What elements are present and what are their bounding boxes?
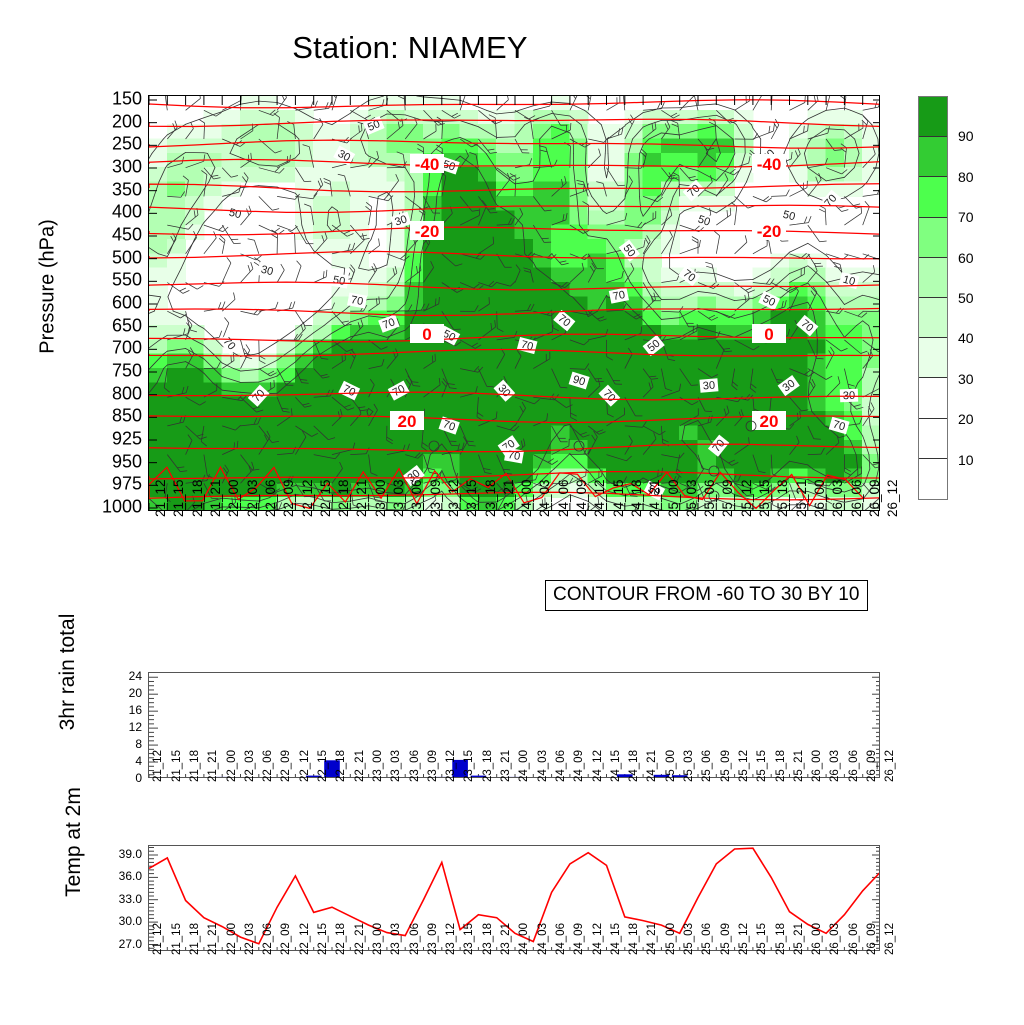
x-tick-label: 25_00 bbox=[666, 479, 681, 517]
x-tick-label: 24_06 bbox=[556, 479, 571, 517]
colorbar-band bbox=[919, 459, 947, 499]
colorbar-band bbox=[919, 97, 947, 137]
x-tick-label: 24_06 bbox=[555, 923, 567, 955]
x-tick-label: 23_21 bbox=[500, 750, 512, 782]
x-tick-label: 24_09 bbox=[573, 923, 585, 955]
main-y-tick: 925 bbox=[112, 429, 142, 450]
x-tick-label: 25_06 bbox=[701, 750, 713, 782]
x-tick-label: 22_21 bbox=[354, 479, 369, 517]
x-tick-label: 21_12 bbox=[153, 479, 168, 517]
main-y-tick: 850 bbox=[112, 406, 142, 427]
x-tick-label: 26_09 bbox=[867, 479, 882, 517]
x-tick-label: 26_06 bbox=[848, 750, 860, 782]
svg-text:70: 70 bbox=[612, 289, 626, 303]
colorbar-tick: 60 bbox=[958, 250, 974, 266]
main-y-tick: 600 bbox=[112, 293, 142, 314]
x-tick-label: 24_12 bbox=[592, 479, 607, 517]
main-y-axis-title: Pressure (hPa) bbox=[37, 177, 60, 397]
x-tick-label: 24_03 bbox=[537, 923, 549, 955]
x-tick-label: 21_12 bbox=[152, 923, 164, 955]
colorbar-tick: 40 bbox=[958, 330, 974, 346]
x-tick-label: 23_18 bbox=[482, 923, 494, 955]
main-y-tick: 200 bbox=[112, 111, 142, 132]
x-tick-label: 22_00 bbox=[226, 750, 238, 782]
x-tick-label: 21_18 bbox=[189, 923, 201, 955]
x-tick-label: 26_09 bbox=[866, 923, 878, 955]
x-tick-label: 24_06 bbox=[555, 750, 567, 782]
x-tick-label: 23_06 bbox=[409, 479, 424, 517]
colorbar-tick: 80 bbox=[958, 169, 974, 185]
svg-text:-40: -40 bbox=[757, 155, 782, 174]
svg-text:-20: -20 bbox=[415, 222, 440, 241]
x-tick-label: 23_00 bbox=[372, 923, 384, 955]
x-tick-label: 25_12 bbox=[738, 750, 750, 782]
x-tick-label: 25_21 bbox=[793, 923, 805, 955]
x-tick-label: 25_03 bbox=[683, 923, 695, 955]
rain-y-tick: 0 bbox=[135, 771, 142, 785]
temp-y-tick: 27.0 bbox=[119, 937, 142, 951]
colorbar-tick: 90 bbox=[958, 128, 974, 144]
colorbar-band bbox=[919, 137, 947, 177]
x-tick-label: 23_21 bbox=[501, 479, 516, 517]
rain-bars bbox=[149, 673, 880, 778]
colorbar-tick: 50 bbox=[958, 290, 974, 306]
temp-panel bbox=[148, 845, 880, 951]
colorbar-tick: 70 bbox=[958, 209, 974, 225]
temp-line bbox=[149, 846, 880, 951]
rain-x-axis-labels: 21_1221_1521_1821_2122_0022_0322_0622_09… bbox=[148, 782, 880, 852]
x-tick-label: 23_09 bbox=[427, 750, 439, 782]
x-tick-label: 21_12 bbox=[152, 750, 164, 782]
svg-text:-40: -40 bbox=[415, 155, 440, 174]
rain-plot-area bbox=[148, 672, 880, 778]
x-tick-label: 24_00 bbox=[518, 750, 530, 782]
x-tick-label: 23_12 bbox=[446, 479, 461, 517]
colorbar-band bbox=[919, 177, 947, 217]
x-tick-label: 23_00 bbox=[372, 750, 384, 782]
x-tick-label: 26_12 bbox=[884, 750, 896, 782]
x-tick-label: 21_21 bbox=[207, 750, 219, 782]
x-tick-label: 25_09 bbox=[720, 479, 735, 517]
page-title: Station: NIAMEY bbox=[0, 30, 820, 66]
x-tick-label: 23_12 bbox=[445, 923, 457, 955]
x-tick-label: 25_21 bbox=[793, 750, 805, 782]
x-tick-label: 25_21 bbox=[794, 479, 809, 517]
rain-panel bbox=[148, 672, 880, 778]
temp-plot-area bbox=[148, 845, 880, 951]
x-tick-label: 23_03 bbox=[390, 923, 402, 955]
x-tick-label: 25_06 bbox=[701, 923, 713, 955]
x-tick-label: 25_03 bbox=[684, 479, 699, 517]
main-y-tick: 800 bbox=[112, 383, 142, 404]
x-tick-label: 25_12 bbox=[738, 923, 750, 955]
main-y-axis-labels: 1502002503003504004505005506006507007508… bbox=[60, 95, 142, 511]
x-tick-label: 26_12 bbox=[884, 923, 896, 955]
main-y-tick: 975 bbox=[112, 474, 142, 495]
x-tick-label: 22_06 bbox=[263, 479, 278, 517]
x-tick-label: 21_18 bbox=[190, 479, 205, 517]
x-tick-label: 23_18 bbox=[482, 750, 494, 782]
x-tick-label: 25_12 bbox=[739, 479, 754, 517]
x-tick-label: 25_18 bbox=[775, 923, 787, 955]
main-y-tick: 950 bbox=[112, 451, 142, 472]
x-tick-label: 24_15 bbox=[610, 923, 622, 955]
x-tick-label: 23_12 bbox=[445, 750, 457, 782]
temp-y-axis-labels: 39.036.033.030.027.0 bbox=[72, 845, 142, 951]
main-y-tick: 1000 bbox=[102, 497, 142, 518]
temp-y-tick: 33.0 bbox=[119, 892, 142, 906]
x-tick-label: 23_06 bbox=[409, 750, 421, 782]
x-tick-label: 26_03 bbox=[830, 479, 845, 517]
temp-y-tick: 30.0 bbox=[119, 914, 142, 928]
rain-y-tick: 12 bbox=[129, 720, 142, 734]
rain-y-tick: 8 bbox=[135, 737, 142, 751]
figure-canvas: Station: NIAMEY 150200250300350400450500… bbox=[0, 0, 1024, 1024]
main-y-tick: 350 bbox=[112, 179, 142, 200]
x-tick-label: 22_09 bbox=[281, 479, 296, 517]
x-tick-label: 21_21 bbox=[207, 923, 219, 955]
x-tick-label: 23_03 bbox=[390, 750, 402, 782]
x-tick-label: 26_00 bbox=[812, 479, 827, 517]
x-tick-label: 24_21 bbox=[646, 923, 658, 955]
x-tick-label: 25_09 bbox=[720, 750, 732, 782]
x-tick-label: 23_21 bbox=[500, 923, 512, 955]
x-tick-label: 22_15 bbox=[317, 923, 329, 955]
contour-range-note: CONTOUR FROM -60 TO 30 BY 10 bbox=[545, 580, 868, 611]
x-tick-label: 26_12 bbox=[885, 479, 900, 517]
x-tick-label: 22_03 bbox=[245, 479, 260, 517]
x-tick-label: 24_18 bbox=[628, 923, 640, 955]
svg-text:70: 70 bbox=[350, 294, 364, 308]
x-tick-label: 24_15 bbox=[611, 479, 626, 517]
x-tick-label: 23_00 bbox=[373, 479, 388, 517]
x-tick-label: 25_06 bbox=[702, 479, 717, 517]
x-tick-label: 22_15 bbox=[318, 479, 333, 517]
colorbar-tick: 20 bbox=[958, 411, 974, 427]
x-tick-label: 22_18 bbox=[335, 750, 347, 782]
x-tick-label: 24_00 bbox=[518, 923, 530, 955]
x-tick-label: 21_18 bbox=[189, 750, 201, 782]
x-tick-label: 21_15 bbox=[171, 750, 183, 782]
x-tick-label: 26_06 bbox=[848, 923, 860, 955]
x-tick-label: 23_03 bbox=[391, 479, 406, 517]
colorbar-band bbox=[919, 298, 947, 338]
x-tick-label: 24_21 bbox=[647, 479, 662, 517]
rain-y-axis-labels: 24201612840 bbox=[78, 672, 142, 778]
x-tick-label: 25_15 bbox=[756, 923, 768, 955]
x-tick-label: 25_18 bbox=[775, 479, 790, 517]
main-y-tick: 400 bbox=[112, 202, 142, 223]
x-tick-label: 24_18 bbox=[629, 479, 644, 517]
x-tick-label: 23_15 bbox=[464, 479, 479, 517]
x-tick-label: 25_00 bbox=[665, 750, 677, 782]
cross-section-graphic: 3030303050303030505050505050507070707070… bbox=[149, 96, 880, 511]
x-tick-label: 23_06 bbox=[409, 923, 421, 955]
svg-text:20: 20 bbox=[760, 412, 779, 431]
x-tick-label: 22_18 bbox=[336, 479, 351, 517]
x-tick-label: 23_15 bbox=[463, 923, 475, 955]
main-y-tick: 700 bbox=[112, 338, 142, 359]
x-tick-label: 24_15 bbox=[610, 750, 622, 782]
main-y-tick: 500 bbox=[112, 247, 142, 268]
colorbar-band bbox=[919, 419, 947, 459]
cross-section-plot-area: 3030303050303030505050505050507070707070… bbox=[148, 95, 880, 511]
x-tick-label: 24_12 bbox=[592, 750, 604, 782]
main-y-tick: 250 bbox=[112, 134, 142, 155]
temp-y-tick: 39.0 bbox=[119, 847, 142, 861]
x-tick-label: 24_00 bbox=[519, 479, 534, 517]
main-y-tick: 650 bbox=[112, 315, 142, 336]
x-tick-label: 22_15 bbox=[317, 750, 329, 782]
x-tick-label: 24_12 bbox=[592, 923, 604, 955]
colorbar bbox=[918, 96, 948, 500]
svg-text:50: 50 bbox=[332, 274, 346, 288]
x-tick-label: 24_18 bbox=[628, 750, 640, 782]
x-tick-label: 25_15 bbox=[757, 479, 772, 517]
colorbar-tick: 30 bbox=[958, 371, 974, 387]
main-x-axis-labels: 21_1221_1521_1821_2122_0022_0322_0622_09… bbox=[148, 517, 880, 587]
x-tick-label: 26_00 bbox=[811, 750, 823, 782]
x-tick-label: 24_09 bbox=[574, 479, 589, 517]
x-tick-label: 21_15 bbox=[171, 923, 183, 955]
x-tick-label: 24_03 bbox=[537, 479, 552, 517]
svg-text:20: 20 bbox=[398, 412, 417, 431]
x-tick-label: 24_03 bbox=[537, 750, 549, 782]
x-tick-label: 24_09 bbox=[573, 750, 585, 782]
svg-text:30: 30 bbox=[702, 380, 715, 393]
main-y-tick: 750 bbox=[112, 361, 142, 382]
x-tick-label: 26_06 bbox=[849, 479, 864, 517]
rain-y-tick: 24 bbox=[129, 669, 142, 683]
main-y-tick: 300 bbox=[112, 157, 142, 178]
rain-y-tick: 20 bbox=[129, 686, 142, 700]
colorbar-band bbox=[919, 258, 947, 298]
x-tick-label: 22_12 bbox=[299, 750, 311, 782]
x-tick-label: 22_03 bbox=[244, 750, 256, 782]
x-tick-label: 22_21 bbox=[354, 750, 366, 782]
rain-y-tick: 16 bbox=[129, 703, 142, 717]
temp-y-tick: 36.0 bbox=[119, 869, 142, 883]
x-tick-label: 22_09 bbox=[280, 923, 292, 955]
x-tick-label: 25_18 bbox=[775, 750, 787, 782]
x-tick-label: 25_03 bbox=[683, 750, 695, 782]
x-tick-label: 23_18 bbox=[483, 479, 498, 517]
temp-x-axis-labels: 21_1221_1521_1821_2122_0022_0322_0622_09… bbox=[148, 955, 880, 1025]
x-tick-label: 26_03 bbox=[829, 750, 841, 782]
x-tick-label: 23_15 bbox=[463, 750, 475, 782]
x-tick-label: 22_03 bbox=[244, 923, 256, 955]
x-tick-label: 25_00 bbox=[665, 923, 677, 955]
x-tick-label: 26_03 bbox=[829, 923, 841, 955]
colorbar-band bbox=[919, 218, 947, 258]
x-tick-label: 25_15 bbox=[756, 750, 768, 782]
x-tick-label: 23_09 bbox=[428, 479, 443, 517]
main-y-tick: 450 bbox=[112, 225, 142, 246]
x-tick-label: 24_21 bbox=[646, 750, 658, 782]
x-tick-label: 26_00 bbox=[811, 923, 823, 955]
x-tick-label: 22_00 bbox=[226, 479, 241, 517]
x-tick-label: 22_00 bbox=[226, 923, 238, 955]
x-tick-label: 22_21 bbox=[354, 923, 366, 955]
colorbar-tick: 10 bbox=[958, 452, 974, 468]
main-y-tick: 550 bbox=[112, 270, 142, 291]
x-tick-label: 23_09 bbox=[427, 923, 439, 955]
rain-y-tick: 4 bbox=[135, 754, 142, 768]
x-tick-label: 22_06 bbox=[262, 750, 274, 782]
colorbar-band bbox=[919, 338, 947, 378]
colorbar-band bbox=[919, 378, 947, 418]
x-tick-label: 22_12 bbox=[300, 479, 315, 517]
main-y-tick: 150 bbox=[112, 89, 142, 110]
x-tick-label: 22_18 bbox=[335, 923, 347, 955]
x-tick-label: 22_06 bbox=[262, 923, 274, 955]
x-tick-label: 22_09 bbox=[280, 750, 292, 782]
x-tick-label: 25_09 bbox=[720, 923, 732, 955]
x-tick-label: 26_09 bbox=[866, 750, 878, 782]
svg-text:0: 0 bbox=[764, 325, 773, 344]
x-tick-label: 21_15 bbox=[171, 479, 186, 517]
x-tick-label: 22_12 bbox=[299, 923, 311, 955]
cross-section-panel: 3030303050303030505050505050507070707070… bbox=[148, 95, 880, 511]
x-tick-label: 21_21 bbox=[208, 479, 223, 517]
svg-text:0: 0 bbox=[422, 325, 431, 344]
svg-text:-20: -20 bbox=[757, 222, 782, 241]
